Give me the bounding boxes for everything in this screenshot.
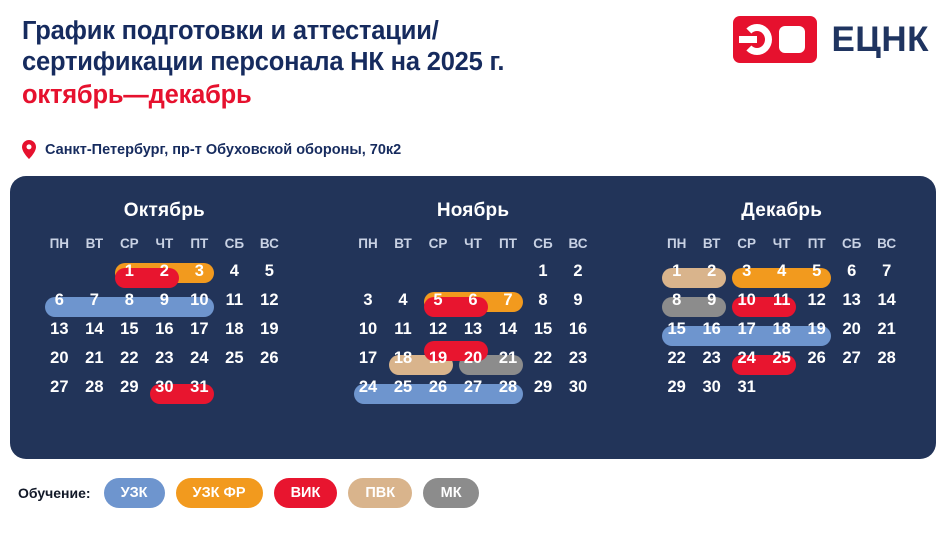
day-cell-empty — [252, 373, 287, 402]
day-cell[interactable]: 30 — [694, 373, 729, 402]
month-title: Ноябрь — [319, 200, 628, 222]
weekday-СБ: СБ — [834, 236, 869, 257]
weekday-СР: СР — [112, 236, 147, 257]
day-cell[interactable]: 26 — [252, 344, 287, 373]
day-cell[interactable]: 14 — [77, 315, 112, 344]
day-cell[interactable]: 27 — [456, 373, 491, 402]
month-ноябрь: НоябрьПНВТСРЧТПТСБВС12345678910111213141… — [319, 176, 628, 459]
day-cell[interactable]: 25 — [764, 344, 799, 373]
weekday-ПН: ПН — [42, 236, 77, 257]
day-cell-empty — [386, 257, 421, 286]
day-cell[interactable]: 29 — [112, 373, 147, 402]
day-cell[interactable]: 25 — [217, 344, 252, 373]
map-pin-icon — [22, 140, 36, 159]
legend-item-УЗК-ФР[interactable]: УЗК ФР — [176, 478, 263, 508]
day-cell[interactable]: 1 — [112, 257, 147, 286]
day-cell[interactable]: 28 — [491, 373, 526, 402]
day-cell[interactable]: 23 — [694, 344, 729, 373]
day-cell[interactable]: 31 — [729, 373, 764, 402]
day-cell[interactable]: 6 — [42, 286, 77, 315]
weekday-ВТ: ВТ — [386, 236, 421, 257]
header: График подготовки и аттестации/ сертифик… — [0, 0, 946, 175]
day-cell[interactable]: 5 — [252, 257, 287, 286]
day-cell[interactable]: 19 — [421, 344, 456, 373]
legend-item-ПВК[interactable]: ПВК — [348, 478, 412, 508]
day-cell[interactable]: 10 — [182, 286, 217, 315]
day-cell[interactable]: 1 — [659, 257, 694, 286]
week-row: 3456789 — [351, 286, 596, 315]
day-cell[interactable]: 22 — [112, 344, 147, 373]
address-text: Санкт-Петербург, пр-т Обуховской обороны… — [45, 142, 401, 158]
weekday-ПН: ПН — [351, 236, 386, 257]
legend-label: Обучение: — [18, 485, 91, 501]
day-cell[interactable]: 29 — [659, 373, 694, 402]
day-cell[interactable]: 28 — [869, 344, 904, 373]
day-cell[interactable]: 11 — [764, 286, 799, 315]
day-cell[interactable]: 22 — [659, 344, 694, 373]
week-row: 293031 — [659, 373, 904, 402]
day-cell[interactable]: 2 — [147, 257, 182, 286]
day-cell[interactable]: 4 — [764, 257, 799, 286]
day-cell[interactable]: 1 — [526, 257, 561, 286]
day-cell[interactable]: 12 — [252, 286, 287, 315]
day-cell[interactable]: 16 — [694, 315, 729, 344]
day-cell[interactable]: 14 — [491, 315, 526, 344]
day-cell[interactable]: 15 — [659, 315, 694, 344]
month-октябрь: ОктябрьПНВТСРЧТПТСБВС1234567891011121314… — [10, 176, 319, 459]
day-cell[interactable]: 25 — [386, 373, 421, 402]
day-cell[interactable]: 10 — [729, 286, 764, 315]
weekday-СР: СР — [421, 236, 456, 257]
weekday-header-row: ПНВТСРЧТПТСБВС — [42, 236, 287, 257]
day-cell[interactable]: 6 — [456, 286, 491, 315]
weekday-header-row: ПНВТСРЧТПТСБВС — [351, 236, 596, 257]
day-cell[interactable]: 26 — [421, 373, 456, 402]
day-cell[interactable]: 18 — [217, 315, 252, 344]
legend: Обучение: УЗКУЗК ФРВИКПВКМК — [18, 478, 479, 508]
day-cell-empty — [491, 257, 526, 286]
calendar-panel: ОктябрьПНВТСРЧТПТСБВС1234567891011121314… — [10, 176, 936, 459]
day-cell[interactable]: 10 — [351, 315, 386, 344]
month-title: Декабрь — [627, 200, 936, 222]
week-row: 6789101112 — [42, 286, 287, 315]
title-line-2: сертификации персонала НК на 2025 г. — [22, 47, 662, 78]
day-cell-empty — [421, 257, 456, 286]
day-cell[interactable]: 16 — [147, 315, 182, 344]
month-grid: ПНВТСРЧТПТСБВС12345678910111213141516171… — [42, 236, 287, 402]
day-cell[interactable]: 7 — [869, 257, 904, 286]
day-cell[interactable]: 6 — [834, 257, 869, 286]
day-cell[interactable]: 20 — [42, 344, 77, 373]
day-cell[interactable]: 15 — [112, 315, 147, 344]
day-cell[interactable]: 23 — [561, 344, 596, 373]
day-cell[interactable]: 31 — [182, 373, 217, 402]
day-cell-empty — [42, 257, 77, 286]
legend-item-ВИК[interactable]: ВИК — [274, 478, 338, 508]
month-grid: ПНВТСРЧТПТСБВС12345678910111213141516171… — [351, 236, 596, 402]
logo: ЕЦНК — [733, 16, 929, 63]
day-cell[interactable]: 11 — [217, 286, 252, 315]
day-cell[interactable]: 3 — [351, 286, 386, 315]
week-row: 10111213141516 — [351, 315, 596, 344]
day-cell[interactable]: 14 — [869, 286, 904, 315]
day-cell[interactable]: 24 — [351, 373, 386, 402]
day-cell-empty — [799, 373, 834, 402]
week-row: 12345 — [42, 257, 287, 286]
weekday-ПТ: ПТ — [491, 236, 526, 257]
day-cell[interactable]: 7 — [77, 286, 112, 315]
weekday-ЧТ: ЧТ — [456, 236, 491, 257]
day-cell[interactable]: 13 — [456, 315, 491, 344]
week-row: 12 — [351, 257, 596, 286]
month-title: Октябрь — [10, 200, 319, 222]
day-cell[interactable]: 13 — [42, 315, 77, 344]
week-row: 17181920212223 — [351, 344, 596, 373]
legend-item-МК[interactable]: МК — [423, 478, 479, 508]
weekday-СБ: СБ — [217, 236, 252, 257]
months-container: ОктябрьПНВТСРЧТПТСБВС1234567891011121314… — [10, 176, 936, 459]
week-row: 13141516171819 — [42, 315, 287, 344]
day-cell[interactable]: 8 — [112, 286, 147, 315]
day-cell[interactable]: 24 — [729, 344, 764, 373]
page-title: График подготовки и аттестации/ сертифик… — [22, 16, 662, 111]
day-cell[interactable]: 27 — [42, 373, 77, 402]
day-cell[interactable]: 3 — [182, 257, 217, 286]
day-cell-empty — [77, 257, 112, 286]
day-cell-empty — [351, 257, 386, 286]
day-cell[interactable]: 5 — [799, 257, 834, 286]
weekday-header-row: ПНВТСРЧТПТСБВС — [659, 236, 904, 257]
day-cell[interactable]: 18 — [386, 344, 421, 373]
weekday-ПТ: ПТ — [799, 236, 834, 257]
day-cell[interactable]: 23 — [147, 344, 182, 373]
address-row: Санкт-Петербург, пр-т Обуховской обороны… — [22, 140, 401, 159]
weekday-ПН: ПН — [659, 236, 694, 257]
week-row: 891011121314 — [659, 286, 904, 315]
day-cell[interactable]: 7 — [491, 286, 526, 315]
month-grid: ПНВТСРЧТПТСБВС12345678910111213141516171… — [659, 236, 904, 402]
day-cell[interactable]: 11 — [386, 315, 421, 344]
day-cell[interactable]: 21 — [491, 344, 526, 373]
day-cell[interactable]: 9 — [694, 286, 729, 315]
day-cell[interactable]: 17 — [182, 315, 217, 344]
weekday-ВС: ВС — [252, 236, 287, 257]
day-cell[interactable]: 2 — [561, 257, 596, 286]
day-cell[interactable]: 19 — [252, 315, 287, 344]
day-cell[interactable]: 18 — [764, 315, 799, 344]
week-row: 22232425262728 — [659, 344, 904, 373]
day-cell[interactable]: 22 — [526, 344, 561, 373]
day-cell[interactable]: 21 — [869, 315, 904, 344]
title-line-1: График подготовки и аттестации/ — [22, 16, 662, 47]
day-cell[interactable]: 8 — [526, 286, 561, 315]
logo-text: ЕЦНК — [831, 22, 929, 57]
weekday-ВТ: ВТ — [694, 236, 729, 257]
day-cell-empty — [834, 373, 869, 402]
day-cell[interactable]: 3 — [729, 257, 764, 286]
title-period: октябрь—декабрь — [22, 80, 662, 111]
day-cell[interactable]: 24 — [182, 344, 217, 373]
day-cell[interactable]: 17 — [729, 315, 764, 344]
day-cell[interactable]: 5 — [421, 286, 456, 315]
weekday-СБ: СБ — [526, 236, 561, 257]
day-cell[interactable]: 19 — [799, 315, 834, 344]
day-cell[interactable]: 29 — [526, 373, 561, 402]
weekday-СР: СР — [729, 236, 764, 257]
day-cell-empty — [764, 373, 799, 402]
weekday-ЧТ: ЧТ — [764, 236, 799, 257]
legend-item-УЗК[interactable]: УЗК — [104, 478, 165, 508]
day-cell[interactable]: 9 — [147, 286, 182, 315]
day-cell[interactable]: 4 — [386, 286, 421, 315]
week-row: 2728293031 — [42, 373, 287, 402]
day-cell[interactable]: 13 — [834, 286, 869, 315]
day-cell[interactable]: 17 — [351, 344, 386, 373]
day-cell[interactable]: 30 — [561, 373, 596, 402]
day-cell[interactable]: 16 — [561, 315, 596, 344]
weekday-ВС: ВС — [561, 236, 596, 257]
weekday-ВС: ВС — [869, 236, 904, 257]
weekday-ПТ: ПТ — [182, 236, 217, 257]
day-cell[interactable]: 20 — [456, 344, 491, 373]
day-cell[interactable]: 20 — [834, 315, 869, 344]
day-cell[interactable]: 12 — [421, 315, 456, 344]
day-cell[interactable]: 2 — [694, 257, 729, 286]
day-cell-empty — [456, 257, 491, 286]
week-row: 15161718192021 — [659, 315, 904, 344]
day-cell[interactable]: 9 — [561, 286, 596, 315]
day-cell[interactable]: 12 — [799, 286, 834, 315]
logo-mark-icon — [733, 16, 817, 63]
day-cell-empty — [217, 373, 252, 402]
day-cell[interactable]: 8 — [659, 286, 694, 315]
weekday-ВТ: ВТ — [77, 236, 112, 257]
day-cell[interactable]: 26 — [799, 344, 834, 373]
day-cell[interactable]: 21 — [77, 344, 112, 373]
day-cell-empty — [869, 373, 904, 402]
week-row: 1234567 — [659, 257, 904, 286]
month-декабрь: ДекабрьПНВТСРЧТПТСБВС1234567891011121314… — [627, 176, 936, 459]
week-row: 20212223242526 — [42, 344, 287, 373]
day-cell[interactable]: 28 — [77, 373, 112, 402]
weekday-ЧТ: ЧТ — [147, 236, 182, 257]
day-cell[interactable]: 15 — [526, 315, 561, 344]
day-cell[interactable]: 30 — [147, 373, 182, 402]
week-row: 24252627282930 — [351, 373, 596, 402]
day-cell[interactable]: 27 — [834, 344, 869, 373]
day-cell[interactable]: 4 — [217, 257, 252, 286]
legend-items: УЗКУЗК ФРВИКПВКМК — [104, 478, 480, 508]
